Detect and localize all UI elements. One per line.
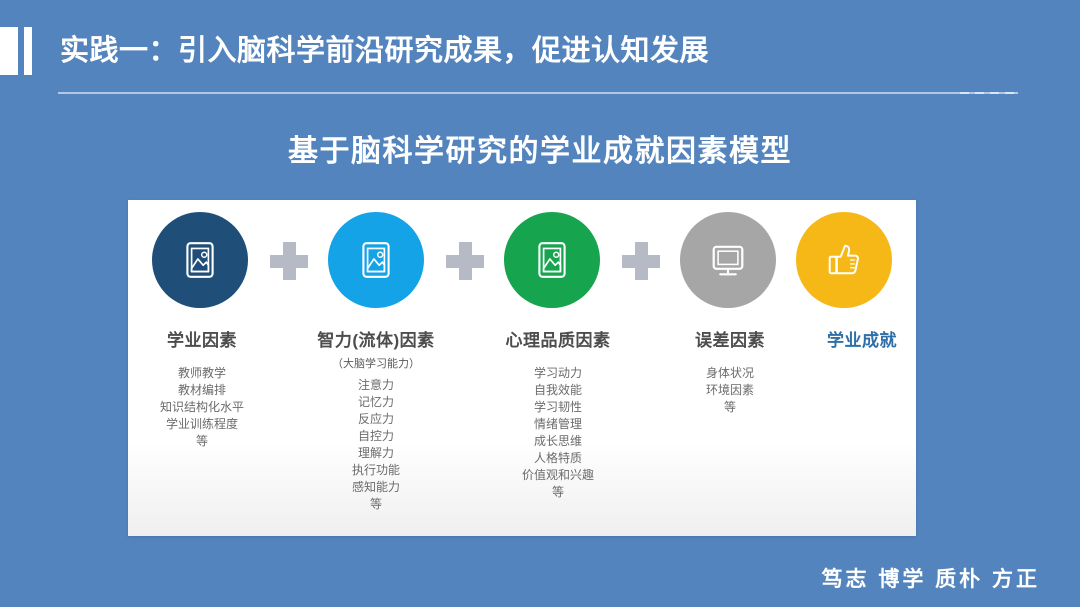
- column-academic: 学业因素 教师教学 教材编排 知识结构化水平 学业训练程度 等: [134, 326, 270, 450]
- list-item: 学习动力: [476, 365, 640, 382]
- list-item: 反应力: [294, 411, 458, 428]
- column-heading: 学业因素: [134, 326, 270, 351]
- slide-header: 实践一：引入脑科学前沿研究成果，促进认知发展: [0, 18, 1080, 86]
- list-item: 自我效能: [476, 382, 640, 399]
- operator-plus-1: [270, 242, 308, 280]
- header-divider-dashes: [960, 92, 1020, 94]
- column-item-list: 注意力 记忆力 反应力 自控力 理解力 执行功能 感知能力 等: [294, 377, 458, 513]
- column-achievement: 学业成就: [788, 326, 936, 351]
- diagram-card: 学业因素 教师教学 教材编排 知识结构化水平 学业训练程度 等 智力(流体)因素…: [128, 200, 916, 536]
- header-divider: [58, 92, 1018, 94]
- column-item-list: 身体状况 环境因素 等: [656, 365, 804, 416]
- diagram-icon-row: [128, 212, 916, 320]
- column-item-list: 教师教学 教材编排 知识结构化水平 学业训练程度 等: [134, 365, 270, 450]
- list-item: 感知能力: [294, 479, 458, 496]
- list-item: 价值观和兴趣: [476, 467, 640, 484]
- image-placeholder-icon: [355, 239, 397, 281]
- list-item: 理解力: [294, 445, 458, 462]
- operator-plus-3: [622, 242, 660, 280]
- list-item: 执行功能: [294, 462, 458, 479]
- column-heading: 智力(流体)因素: [294, 326, 458, 351]
- list-item: 自控力: [294, 428, 458, 445]
- column-psychology: 心理品质因素 学习动力 自我效能 学习韧性 情绪管理 成长思维 人格特质 价值观…: [476, 326, 640, 501]
- thumbs-up-icon: [822, 238, 866, 282]
- column-intelligence: 智力(流体)因素 （大脑学习能力） 注意力 记忆力 反应力 自控力 理解力 执行…: [294, 326, 458, 513]
- column-subheading: （大脑学习能力）: [294, 355, 458, 371]
- column-heading: 学业成就: [788, 326, 936, 351]
- page-title: 实践一：引入脑科学前沿研究成果，促进认知发展: [60, 26, 709, 76]
- monitor-icon: [706, 238, 750, 282]
- node-circle-error[interactable]: [680, 212, 776, 308]
- node-circle-achievement[interactable]: [796, 212, 892, 308]
- list-item: 教材编排: [134, 382, 270, 399]
- image-placeholder-icon: [179, 239, 221, 281]
- diagram-card-surface: 学业因素 教师教学 教材编排 知识结构化水平 学业训练程度 等 智力(流体)因素…: [128, 200, 916, 536]
- column-error: 误差因素 身体状况 环境因素 等: [656, 326, 804, 416]
- list-item: 等: [134, 433, 270, 450]
- list-item: 成长思维: [476, 433, 640, 450]
- slide-root: 实践一：引入脑科学前沿研究成果，促进认知发展 基于脑科学研究的学业成就因素模型: [0, 0, 1080, 607]
- node-circle-academic[interactable]: [152, 212, 248, 308]
- list-item: 记忆力: [294, 394, 458, 411]
- column-item-list: 学习动力 自我效能 学习韧性 情绪管理 成长思维 人格特质 价值观和兴趣 等: [476, 365, 640, 501]
- image-placeholder-icon: [531, 239, 573, 281]
- node-circle-intelligence[interactable]: [328, 212, 424, 308]
- list-item: 学习韧性: [476, 399, 640, 416]
- list-item: 注意力: [294, 377, 458, 394]
- footer-motto: 笃志 博学 质朴 方正: [821, 563, 1040, 593]
- diagram-title: 基于脑科学研究的学业成就因素模型: [0, 126, 1080, 170]
- list-item: 等: [656, 399, 804, 416]
- list-item: 情绪管理: [476, 416, 640, 433]
- list-item: 教师教学: [134, 365, 270, 382]
- list-item: 知识结构化水平: [134, 399, 270, 416]
- column-heading: 误差因素: [656, 326, 804, 351]
- header-bar-thin: [24, 27, 32, 75]
- operator-plus-2: [446, 242, 484, 280]
- header-accent-bars: [0, 27, 32, 75]
- list-item: 学业训练程度: [134, 416, 270, 433]
- list-item: 环境因素: [656, 382, 804, 399]
- header-bar-thick: [0, 27, 18, 75]
- list-item: 人格特质: [476, 450, 640, 467]
- column-heading: 心理品质因素: [476, 326, 640, 351]
- node-circle-psychology[interactable]: [504, 212, 600, 308]
- list-item: 等: [476, 484, 640, 501]
- list-item: 身体状况: [656, 365, 804, 382]
- list-item: 等: [294, 496, 458, 513]
